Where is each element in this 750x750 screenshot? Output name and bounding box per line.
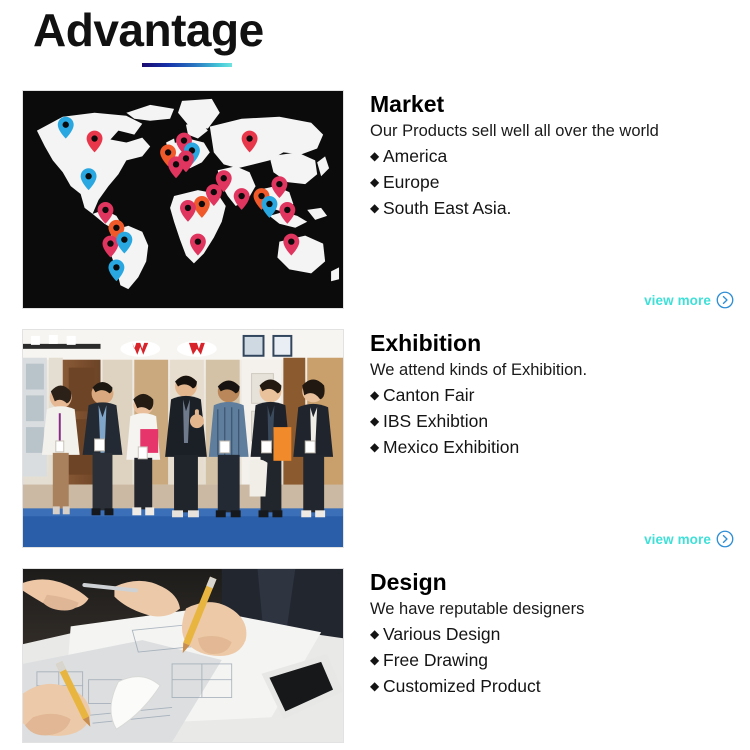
section-title-market: Market <box>370 90 750 118</box>
exhibition-copy: Exhibition We attend kinds of Exhibition… <box>344 329 750 548</box>
market-copy: Market Our Products sell well all over t… <box>344 90 750 309</box>
list-item-label: South East Asia. <box>383 198 511 218</box>
view-more-link-market[interactable]: view more <box>644 291 734 309</box>
diamond-bullet-icon: ◆ <box>370 143 379 169</box>
list-item: ◆Customized Product <box>370 673 750 699</box>
design-photo <box>22 568 344 743</box>
diamond-bullet-icon: ◆ <box>370 169 379 195</box>
section-subtitle-exhibition: We attend kinds of Exhibition. <box>370 359 750 381</box>
world-map-svg <box>23 91 343 308</box>
diamond-bullet-icon: ◆ <box>370 408 379 434</box>
diamond-bullet-icon: ◆ <box>370 195 379 221</box>
title-underline-accent <box>142 63 232 67</box>
advantage-section-design: Design We have reputable designers ◆Vari… <box>0 568 750 743</box>
list-item: ◆Various Design <box>370 621 750 647</box>
section-title-design: Design <box>370 568 750 596</box>
section-list-exhibition: ◆Canton Fair ◆IBS Exhibtion ◆Mexico Exhi… <box>370 382 750 460</box>
advantage-section-exhibition: Exhibition We attend kinds of Exhibition… <box>0 329 750 548</box>
list-item: ◆America <box>370 143 750 169</box>
list-item: ◆IBS Exhibtion <box>370 408 750 434</box>
view-more-label: view more <box>644 293 711 308</box>
list-item-label: America <box>383 146 447 166</box>
world-map-image <box>22 90 344 309</box>
diamond-bullet-icon: ◆ <box>370 647 379 673</box>
design-copy: Design We have reputable designers ◆Vari… <box>344 568 750 743</box>
list-item: ◆South East Asia. <box>370 195 750 221</box>
exhibition-photo-svg <box>23 330 343 547</box>
chevron-right-circle-icon <box>716 530 734 548</box>
page-title: Advantage <box>33 0 750 58</box>
section-list-design: ◆Various Design ◆Free Drawing ◆Customize… <box>370 621 750 699</box>
design-photo-svg <box>23 569 343 742</box>
exhibition-photo-canvas <box>23 330 343 547</box>
advantage-section-market: Market Our Products sell well all over t… <box>0 90 750 309</box>
list-item-label: Customized Product <box>383 676 541 696</box>
section-title-exhibition: Exhibition <box>370 329 750 357</box>
chevron-right-circle-icon <box>716 291 734 309</box>
diamond-bullet-icon: ◆ <box>370 434 379 460</box>
design-photo-canvas <box>23 569 343 742</box>
diamond-bullet-icon: ◆ <box>370 382 379 408</box>
list-item-label: IBS Exhibtion <box>383 411 488 431</box>
section-subtitle-design: We have reputable designers <box>370 598 750 620</box>
diamond-bullet-icon: ◆ <box>370 621 379 647</box>
list-item: ◆Mexico Exhibition <box>370 434 750 460</box>
view-more-link-exhibition[interactable]: view more <box>644 530 734 548</box>
view-more-label: view more <box>644 532 711 547</box>
list-item-label: Various Design <box>383 624 500 644</box>
list-item-label: Europe <box>383 172 439 192</box>
list-item-label: Mexico Exhibition <box>383 437 519 457</box>
list-item-label: Canton Fair <box>383 385 474 405</box>
page-header: Advantage <box>0 0 750 90</box>
diamond-bullet-icon: ◆ <box>370 673 379 699</box>
map-canvas <box>23 91 343 308</box>
list-item-label: Free Drawing <box>383 650 488 670</box>
section-list-market: ◆America ◆Europe ◆South East Asia. <box>370 143 750 221</box>
exhibition-photo <box>22 329 344 548</box>
section-subtitle-market: Our Products sell well all over the worl… <box>370 120 750 142</box>
list-item: ◆Europe <box>370 169 750 195</box>
list-item: ◆Canton Fair <box>370 382 750 408</box>
list-item: ◆Free Drawing <box>370 647 750 673</box>
